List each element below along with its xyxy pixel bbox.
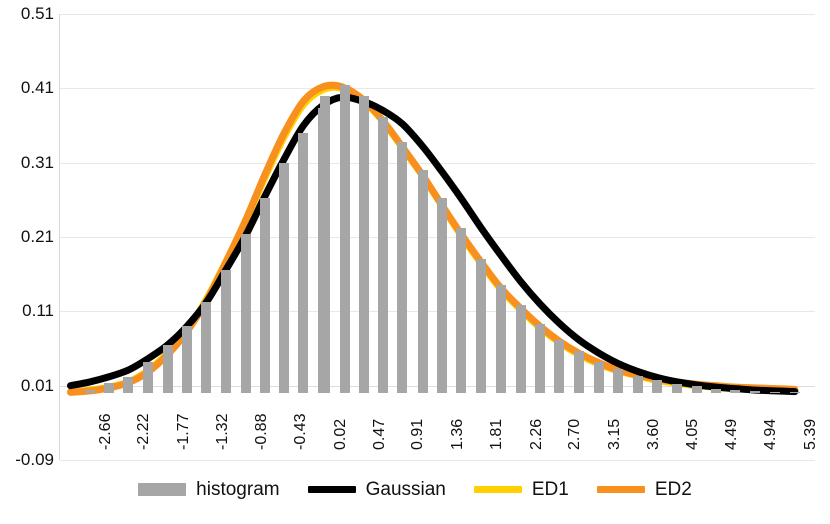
histogram-bar [378,117,388,394]
legend-label: ED2 [655,480,692,499]
histogram-bar [123,377,133,393]
histogram-bar [496,285,506,394]
y-axis-tick-label: 0.51 [0,5,54,22]
x-axis-tick-label: -2.66 [97,414,115,450]
histogram-bar [143,362,153,393]
chart-container: 0.510.410.310.210.110.01-0.09 -2.66-2.22… [0,0,830,524]
x-axis-tick-label: 1.81 [488,419,506,450]
x-axis-tick-label: 3.60 [645,419,663,450]
histogram-bar [574,351,584,393]
plot-area [60,14,815,460]
histogram-bar [672,384,682,393]
legend-swatch-icon [597,486,645,493]
histogram-bar [320,96,330,393]
curve-gaussian [71,97,795,391]
x-axis-tick-label: -2.22 [135,414,153,450]
histogram-bar [633,376,643,393]
x-axis-tick-label: 1.36 [449,419,467,450]
histogram-bar [260,198,270,393]
x-axis-tick-label: 4.94 [762,419,780,450]
x-axis-tick-label: 5.39 [802,419,820,450]
legend-label: Gaussian [366,480,446,499]
histogram-bar [201,302,211,393]
histogram-bar [516,305,526,393]
x-axis-tick-label: 0.02 [332,419,350,450]
legend-item-ed2[interactable]: ED2 [597,480,692,499]
legend-swatch-icon [138,483,186,496]
histogram-bar [476,259,486,394]
x-axis-tick-label: 2.70 [566,419,584,450]
y-axis-tick-label: 0.01 [0,377,54,394]
legend-item-ed1[interactable]: ED1 [474,480,569,499]
histogram-bar [456,228,466,393]
histogram-bar [554,340,564,394]
x-axis-tick-label: 4.05 [684,419,702,450]
y-axis-tick-label: -0.09 [0,451,54,468]
histogram-bar [711,389,721,393]
legend-swatch-icon [474,486,522,493]
histogram-bar [790,392,800,393]
histogram-bar [730,390,740,393]
x-axis-tick-label: 2.26 [528,419,546,450]
x-axis-tick-label: 0.91 [409,419,427,450]
y-axis-tick-label: 0.11 [0,302,54,319]
x-axis-tick-label: 0.47 [371,419,389,450]
x-axis-tick-label: 4.49 [723,419,741,450]
histogram-bar [535,324,545,393]
legend-swatch-icon [308,486,356,493]
gridline [60,460,815,461]
histogram-bar [418,170,428,393]
x-axis-tick-label: 3.15 [606,419,624,450]
x-axis-tick-label: -0.88 [253,414,271,450]
legend-item-gaussian[interactable]: Gaussian [308,480,446,499]
histogram-bar [298,133,308,393]
y-axis-tick-label: 0.41 [0,79,54,96]
histogram-bar [163,345,173,393]
histogram-bar [770,392,780,393]
legend-item-histogram[interactable]: histogram [138,480,279,499]
y-axis-tick-label: 0.31 [0,154,54,171]
x-axis-tick-label: -1.77 [175,414,193,450]
histogram-bar [340,85,350,393]
histogram-bar [279,163,289,393]
histogram-bar [652,380,662,393]
x-axis-tick-label: -0.43 [292,414,310,450]
histogram-bar [437,198,447,393]
histogram-bar [613,369,623,393]
histogram-bar [594,362,604,393]
histogram-bar [104,383,114,393]
histogram-bar [692,386,702,393]
histogram-bar [397,142,407,393]
histogram-bar [182,326,192,393]
y-axis-tick-label: 0.21 [0,228,54,245]
x-axis-tick-label: -1.32 [214,414,232,450]
legend-label: histogram [196,480,279,499]
curve-ed2 [71,85,795,392]
histogram-bar [241,234,251,393]
histogram-bar [221,270,231,393]
histogram-bar [750,391,760,393]
histogram-bar [359,96,369,393]
histogram-bar [85,390,95,393]
chart-legend: histogramGaussianED1ED2 [0,480,830,499]
legend-label: ED1 [532,480,569,499]
